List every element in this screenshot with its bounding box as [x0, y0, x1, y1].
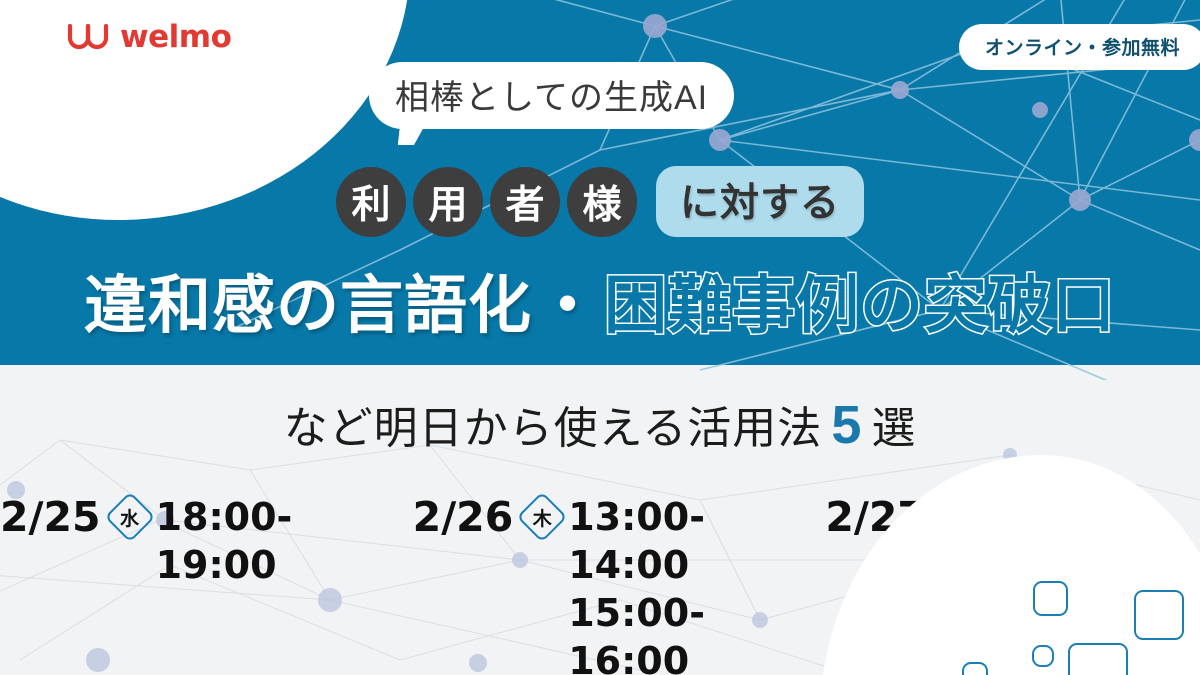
day-of-week-diamond: 木 — [520, 495, 564, 539]
decorative-square — [1068, 643, 1128, 675]
schedule-times: 13:00-14:00 15:00-16:00 — [568, 493, 787, 675]
schedule-times: 18:00-19:00 — [156, 493, 375, 589]
welmo-logo-text: welmo — [120, 22, 231, 53]
decorative-square — [1033, 581, 1068, 616]
tagline-bubble: 相棒としての生成AI — [369, 62, 734, 129]
headline-outline-part: 困難事例の突破口 — [604, 255, 1116, 346]
decorative-square — [1032, 645, 1054, 667]
day-of-week-label: 水 — [108, 495, 152, 539]
emphasis-row: 利 用 者 様 に対する — [0, 166, 1200, 237]
day-of-week-label: 木 — [520, 495, 564, 539]
emphasis-circle: 者 — [490, 167, 560, 237]
banner-stage: welmo オンライン・参加無料 相棒としての生成AI 利 用 者 様 に対する… — [0, 0, 1200, 675]
welmo-logo: welmo — [66, 22, 231, 53]
subtitle-lead: など明日から使える活用法 — [284, 392, 823, 456]
main-headline: 違和感の言語化 ・ 困難事例の突破口 — [0, 255, 1200, 346]
subtitle: など明日から使える活用法 5 選 — [0, 392, 1200, 456]
schedule-date: 2/25 — [0, 493, 101, 541]
schedule-time: 13:00-14:00 — [568, 493, 787, 589]
decorative-square — [1134, 590, 1184, 640]
headline-separator: ・ — [532, 255, 604, 346]
schedule-item: 2/25 水 18:00-19:00 — [0, 493, 375, 589]
emphasis-pill: に対する — [656, 166, 864, 237]
emphasis-circle: 用 — [413, 167, 483, 237]
online-free-badge: オンライン・参加無料 — [959, 24, 1200, 70]
schedule-time: 18:00-19:00 — [156, 493, 375, 589]
day-of-week-diamond: 水 — [108, 495, 152, 539]
schedule-time: 15:00-16:00 — [568, 589, 787, 675]
schedule-date: 2/26 — [413, 493, 514, 541]
emphasis-circle: 利 — [336, 167, 406, 237]
headline-solid-part: 違和感の言語化 — [84, 255, 532, 346]
decorative-square — [962, 662, 988, 675]
emphasis-circle: 様 — [567, 167, 637, 237]
subtitle-number: 5 — [822, 394, 871, 456]
welmo-w-mark-icon — [66, 23, 110, 53]
subtitle-trail: 選 — [871, 392, 916, 456]
tagline-bubble-text: 相棒としての生成AI — [369, 62, 734, 129]
schedule-item: 2/26 木 13:00-14:00 15:00-16:00 — [413, 493, 788, 675]
